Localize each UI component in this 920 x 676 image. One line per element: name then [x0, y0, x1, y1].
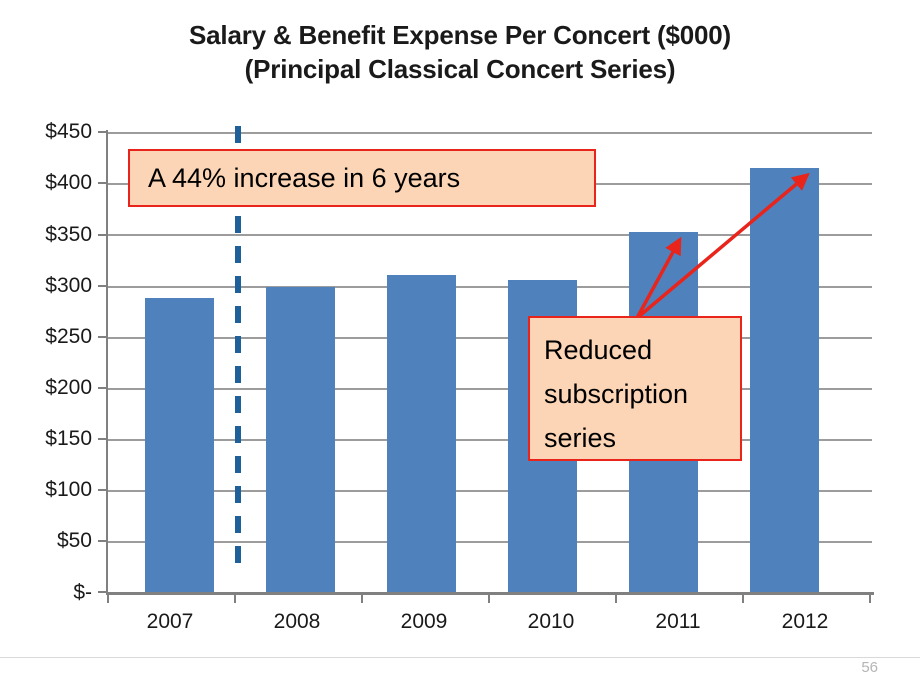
x-axis-tick-4: [615, 593, 617, 603]
x-axis-tick-3: [488, 593, 490, 603]
callout-increase-text: A 44% increase in 6 years: [148, 156, 460, 200]
callout-reduced-line2: subscription: [544, 372, 740, 416]
y-axis-label-350: $350: [8, 224, 92, 245]
y-axis-label-450: $450: [8, 121, 92, 142]
y-axis-labels: $450 $400 $350 $300 $250 $200 $150 $100 …: [0, 0, 92, 674]
x-axis-label-2012: 2012: [745, 610, 865, 634]
x-axis-tick-5: [742, 593, 744, 603]
x-axis-tick-6: [869, 593, 871, 603]
y-axis-label-100: $100: [8, 479, 92, 500]
x-axis-label-2008: 2008: [237, 610, 357, 634]
callout-increase[interactable]: A 44% increase in 6 years: [128, 149, 596, 207]
y-axis-label-250: $250: [8, 326, 92, 347]
bar-2009[interactable]: [387, 275, 456, 592]
x-axis-label-2011: 2011: [618, 610, 738, 634]
bar-2012[interactable]: [750, 168, 819, 592]
x-axis-tick-2: [361, 593, 363, 603]
chart-title-line2: (Principal Classical Concert Series): [0, 52, 920, 86]
slide-canvas: Salary & Benefit Expense Per Concert ($0…: [0, 0, 920, 674]
callout-reduced[interactable]: Reduced subscription series: [528, 316, 742, 461]
x-axis-line: [106, 592, 874, 595]
y-axis-label-50: $50: [8, 530, 92, 551]
chart-title-line1: Salary & Benefit Expense Per Concert ($0…: [189, 20, 731, 50]
y-axis-label-0: $-: [8, 582, 92, 603]
y-axis-label-400: $400: [8, 172, 92, 193]
y-axis-label-300: $300: [8, 275, 92, 296]
x-axis-label-2007: 2007: [110, 610, 230, 634]
x-axis-label-2010: 2010: [491, 610, 611, 634]
x-axis-tick-1: [234, 593, 236, 603]
callout-reduced-line3: series: [544, 416, 740, 460]
x-axis-label-2009: 2009: [364, 610, 484, 634]
bar-2008[interactable]: [266, 287, 335, 592]
gridline-450: [108, 132, 872, 134]
bar-2007[interactable]: [145, 298, 214, 592]
callout-reduced-line1: Reduced: [544, 328, 740, 372]
y-axis-label-150: $150: [8, 428, 92, 449]
chart-title: Salary & Benefit Expense Per Concert ($0…: [0, 18, 920, 86]
page-number: 56: [861, 659, 878, 676]
footer-divider: [0, 657, 920, 658]
y-axis-label-200: $200: [8, 377, 92, 398]
x-axis-tick-0: [107, 593, 109, 603]
